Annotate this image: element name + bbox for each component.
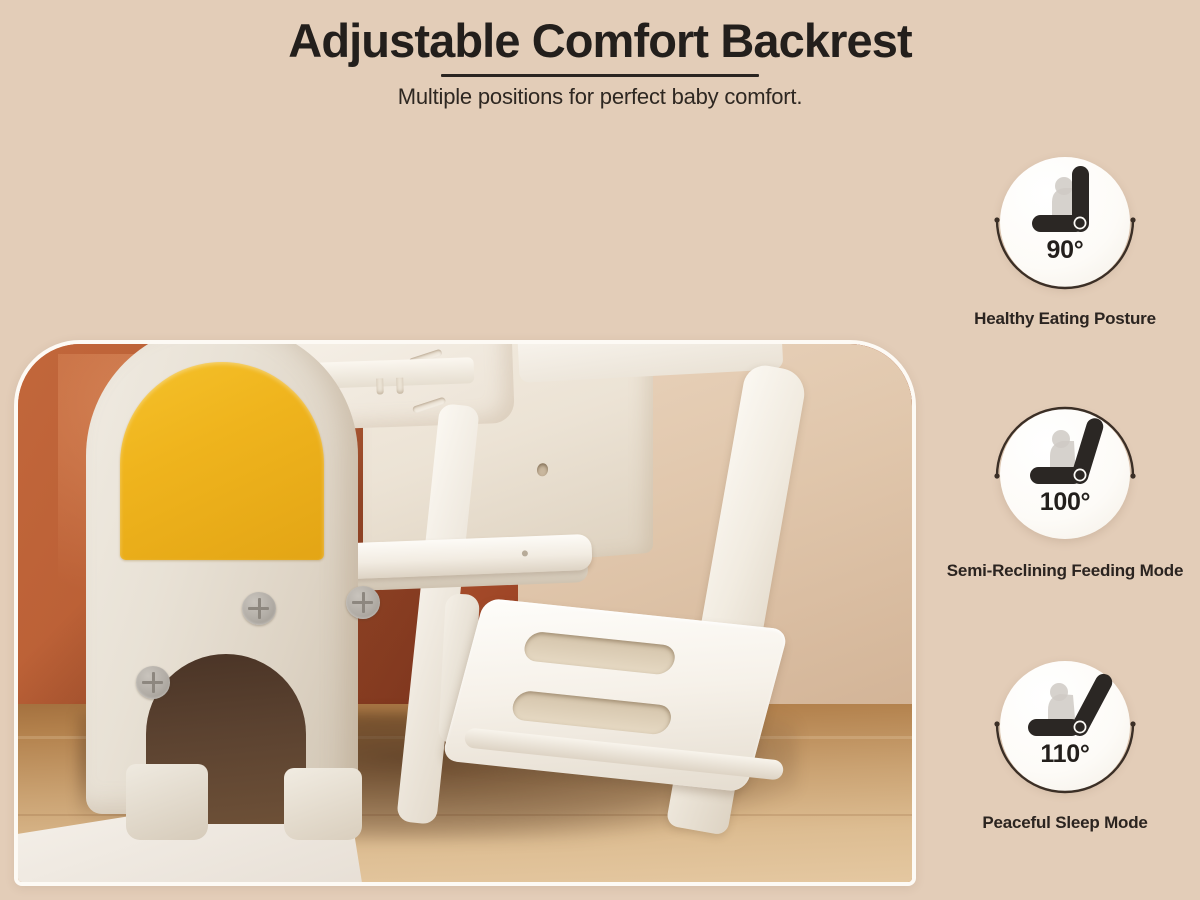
header: Adjustable Comfort Backrest Multiple pos… (0, 0, 1200, 125)
feature-item-110[interactable]: 110° Peaceful Sleep Mode (940, 652, 1190, 900)
angle-value: 110° (1000, 740, 1130, 769)
badge-110: 110° (991, 652, 1139, 800)
clip-tooth (396, 378, 404, 394)
cross-screw-cap (242, 592, 276, 625)
feature-item-100[interactable]: 100° Semi-Reclining Feeding Mode (940, 400, 1190, 652)
yellow-arch-inset (120, 362, 324, 560)
product-photo (14, 340, 916, 886)
front-foot-right (284, 768, 362, 840)
angle-value: 90° (1000, 236, 1130, 265)
cross-screw-cap (136, 666, 170, 699)
angle-value: 100° (1000, 488, 1130, 517)
seat-screw-dot (522, 550, 528, 556)
page-title: Adjustable Comfort Backrest (0, 14, 1200, 68)
feature-list: 90° Healthy Eating Posture 100° (940, 148, 1190, 900)
side-panel (86, 344, 358, 814)
front-foot-left (126, 764, 208, 840)
clip-tooth (376, 378, 384, 394)
panel-hole (537, 463, 548, 477)
feature-label: Peaceful Sleep Mode (940, 812, 1190, 834)
footrest-slot (521, 631, 678, 676)
page-subtitle: Multiple positions for perfect baby comf… (0, 84, 1200, 110)
badge-90: 90° (991, 148, 1139, 296)
baby-high-chair (18, 344, 912, 882)
feature-label: Healthy Eating Posture (940, 308, 1190, 330)
feature-label: Semi-Reclining Feeding Mode (940, 560, 1190, 582)
title-divider (441, 74, 759, 77)
footrest-slot (509, 690, 674, 736)
cross-screw-cap (346, 586, 380, 619)
badge-100: 100° (991, 400, 1139, 548)
photo-scene (18, 344, 912, 882)
feature-item-90[interactable]: 90° Healthy Eating Posture (940, 148, 1190, 400)
